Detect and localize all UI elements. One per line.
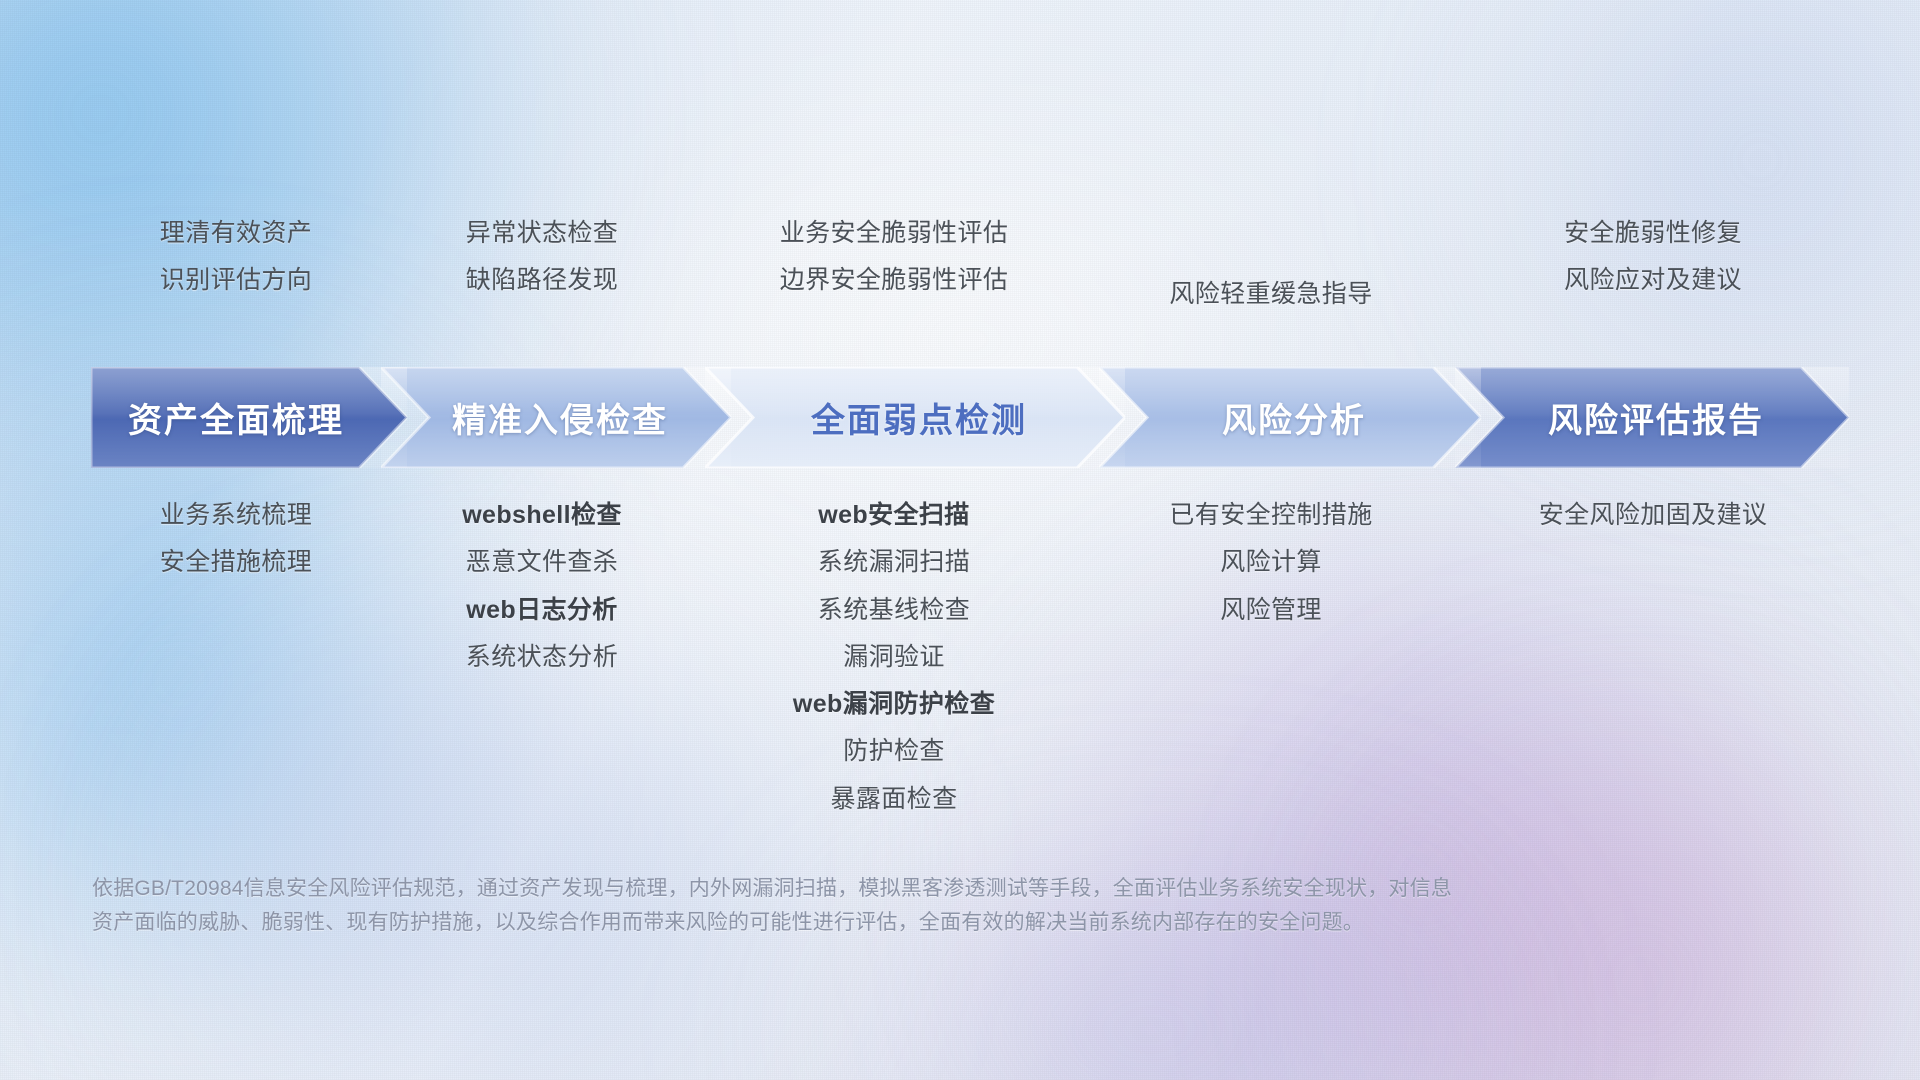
- bottom-item: 安全风险加固及建议: [1539, 500, 1768, 531]
- stage-title-4: 风险分析: [1099, 393, 1481, 442]
- bottom-item: 已有安全控制措施: [1169, 500, 1372, 531]
- top-item: 异常状态检查: [466, 218, 618, 249]
- bottom-item: web漏洞防护检查: [793, 689, 995, 720]
- top-descriptor-row: 理清有效资产 识别评估方向 异常状态检查 缺陷路径发现 业务安全脆弱性评估 边界…: [91, 218, 1849, 348]
- stage-title-1: 资产全面梳理: [91, 393, 407, 442]
- stage-arrow-2[interactable]: 精准入侵检查: [381, 367, 731, 468]
- bottom-item: 风险计算: [1220, 547, 1322, 578]
- bottom-item: webshell检查: [462, 500, 622, 531]
- process-arrow-band: 资产全面梳理 精准入侵检查: [91, 367, 1849, 468]
- stage-arrow-4[interactable]: 风险分析: [1099, 367, 1481, 468]
- slide-canvas: 理清有效资产 识别评估方向 异常状态检查 缺陷路径发现 业务安全脆弱性评估 边界…: [0, 0, 1920, 1080]
- bottom-item: 漏洞验证: [843, 642, 945, 673]
- bottom-item: 系统基线检查: [818, 595, 970, 626]
- footer-line-2: 资产面临的威胁、脆弱性、现有防护措施，以及综合作用而带来风险的可能性进行评估，全…: [92, 906, 1612, 940]
- top-column-2: 异常状态检查 缺陷路径发现: [381, 218, 703, 348]
- top-item: 风险应对及建议: [1564, 265, 1742, 296]
- bottom-item: web安全扫描: [818, 500, 969, 531]
- top-item: 理清有效资产: [160, 218, 312, 249]
- footer-description: 依据GB/T20984信息安全风险评估规范，通过资产发现与梳理，内外网漏洞扫描，…: [92, 872, 1612, 940]
- bottom-item: 安全措施梳理: [160, 547, 312, 578]
- stage-arrow-5[interactable]: 风险评估报告: [1455, 367, 1849, 468]
- footer-line-1: 依据GB/T20984信息安全风险评估规范，通过资产发现与梳理，内外网漏洞扫描，…: [92, 872, 1612, 906]
- top-item: 安全脆弱性修复: [1564, 218, 1742, 249]
- stage-arrow-1[interactable]: 资产全面梳理: [91, 367, 407, 468]
- bottom-column-4: 已有安全控制措施 风险计算 风险管理: [1085, 500, 1457, 830]
- bottom-column-2: webshell检查 恶意文件查杀 web日志分析 系统状态分析: [381, 500, 703, 830]
- bottom-descriptor-row: 业务系统梳理 安全措施梳理 webshell检查 恶意文件查杀 web日志分析 …: [91, 500, 1849, 830]
- top-column-1: 理清有效资产 识别评估方向: [91, 218, 381, 348]
- bottom-column-3: web安全扫描 系统漏洞扫描 系统基线检查 漏洞验证 web漏洞防护检查 防护检…: [703, 500, 1085, 830]
- stage-title-5: 风险评估报告: [1455, 393, 1849, 442]
- bottom-column-5: 安全风险加固及建议: [1457, 500, 1849, 830]
- diagram-content: 理清有效资产 识别评估方向 异常状态检查 缺陷路径发现 业务安全脆弱性评估 边界…: [0, 0, 1920, 1080]
- bottom-item: 防护检查: [843, 736, 945, 767]
- bottom-item: web日志分析: [466, 595, 617, 626]
- bottom-item: 业务系统梳理: [160, 500, 312, 531]
- top-column-5: 安全脆弱性修复 风险应对及建议: [1457, 218, 1849, 348]
- top-item: 边界安全脆弱性评估: [780, 265, 1009, 296]
- top-item: 风险轻重缓急指导: [1169, 279, 1372, 310]
- top-item: 缺陷路径发现: [466, 265, 618, 296]
- top-column-3: 业务安全脆弱性评估 边界安全脆弱性评估: [703, 218, 1085, 348]
- stage-arrow-3[interactable]: 全面弱点检测: [705, 367, 1125, 468]
- bottom-item: 系统漏洞扫描: [818, 547, 970, 578]
- bottom-item: 暴露面检查: [830, 784, 957, 815]
- stage-title-3: 全面弱点检测: [705, 393, 1125, 442]
- bottom-item: 恶意文件查杀: [466, 547, 618, 578]
- top-column-4: 风险轻重缓急指导: [1085, 218, 1457, 348]
- bottom-item: 风险管理: [1220, 595, 1322, 626]
- top-item: 业务安全脆弱性评估: [780, 218, 1009, 249]
- top-item: 识别评估方向: [160, 265, 312, 296]
- stage-title-2: 精准入侵检查: [381, 393, 731, 442]
- bottom-item: 系统状态分析: [466, 642, 618, 673]
- bottom-column-1: 业务系统梳理 安全措施梳理: [91, 500, 381, 830]
